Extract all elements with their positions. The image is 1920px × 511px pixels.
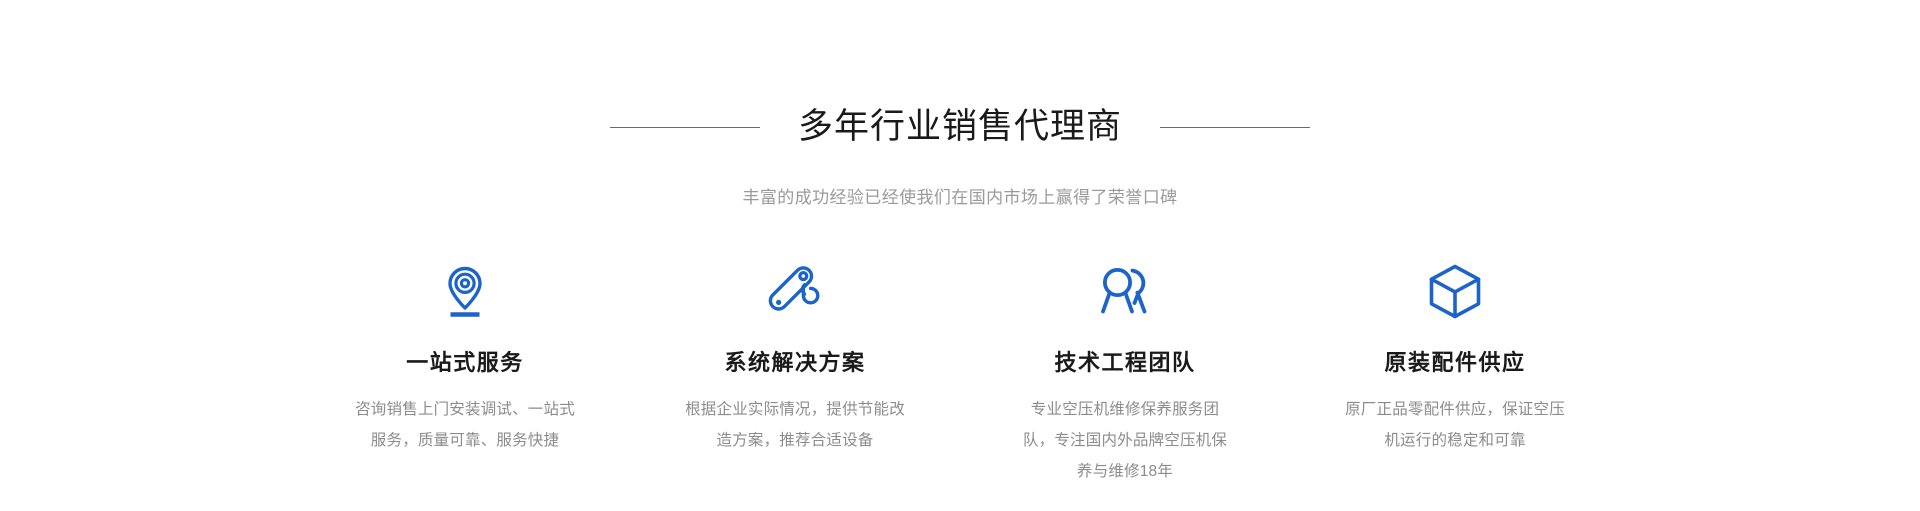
location-pin-icon [434, 259, 496, 321]
feature-item-system-solution[interactable]: 系统解决方案 根据企业实际情况，提供节能改造方案，推荐合适设备 [630, 259, 960, 487]
feature-title: 技术工程团队 [1054, 348, 1195, 378]
feature-item-original-parts[interactable]: 原装配件供应 原厂正品零配件供应，保证空压机运行的稳定和可靠 [1290, 259, 1620, 487]
feature-item-one-stop-service[interactable]: 一站式服务 咨询销售上门安装调试、一站式服务，质量可靠、服务快捷 [300, 259, 630, 487]
title-row: 多年行业销售代理商 [610, 82, 1310, 173]
page-title: 多年行业销售代理商 [798, 105, 1122, 149]
feature-columns: 一站式服务 咨询销售上门安装调试、一站式服务，质量可靠、服务快捷 系统解决方案 [300, 259, 1620, 487]
feature-item-engineering-team[interactable]: 技术工程团队 专业空压机维修保养服务团队，专注国内外品牌空压机保养与维修18年 [960, 259, 1290, 487]
feature-title: 系统解决方案 [724, 348, 865, 378]
team-people-icon [1092, 259, 1158, 321]
cube-box-icon [1424, 259, 1486, 321]
feature-description: 咨询销售上门安装调试、一站式服务，质量可靠、服务快捷 [354, 394, 576, 456]
feature-description: 根据企业实际情况，提供节能改造方案，推荐合适设备 [684, 394, 906, 456]
feature-title: 原装配件供应 [1384, 348, 1525, 378]
right-rule-decoration [1160, 127, 1310, 128]
wrench-tools-icon [764, 259, 826, 321]
page-subtitle: 丰富的成功经验已经使我们在国内市场上赢得了荣誉口碑 [743, 186, 1178, 210]
feature-title: 一站式服务 [406, 348, 524, 378]
feature-description: 原厂正品零配件供应，保证空压机运行的稳定和可靠 [1344, 394, 1566, 456]
left-rule-decoration [610, 127, 760, 128]
feature-description: 专业空压机维修保养服务团队，专注国内外品牌空压机保养与维修18年 [1016, 394, 1234, 487]
section-header: 多年行业销售代理商 丰富的成功经验已经使我们在国内市场上赢得了荣誉口碑 [0, 82, 1920, 210]
features-section: 多年行业销售代理商 丰富的成功经验已经使我们在国内市场上赢得了荣誉口碑 一站式服… [0, 0, 1920, 511]
